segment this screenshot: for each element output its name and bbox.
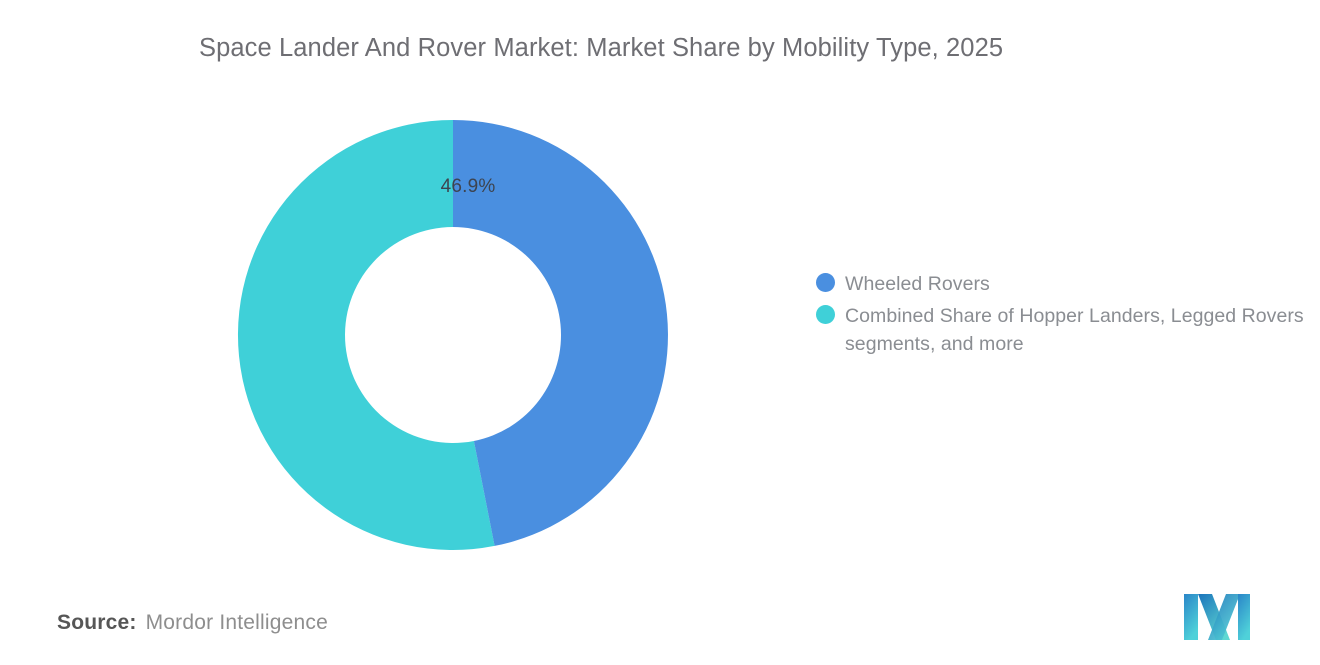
legend-item-combined-share[interactable]: Combined Share of Hopper Landers, Legged… [816,302,1308,359]
mordor-intelligence-logo-icon [1182,594,1252,640]
chart-figure: Space Lander And Rover Market: Market Sh… [0,0,1320,665]
donut-chart-plot-area [238,120,668,550]
donut-slice-wheeled-rovers[interactable] [453,120,668,546]
logo-svg [1182,594,1252,640]
source-value: Mordor Intelligence [146,611,328,635]
donut-chart-svg [238,120,668,550]
legend-swatch-icon-combined-share [816,305,835,324]
source-line: Source: Mordor Intelligence [57,611,328,635]
chart-title: Space Lander And Rover Market: Market Sh… [199,31,1259,65]
legend-swatch-icon-wheeled-rovers [816,273,835,292]
chart-legend: Wheeled Rovers Combined Share of Hopper … [816,270,1308,362]
legend-label-combined-share: Combined Share of Hopper Landers, Legged… [845,302,1308,359]
source-label: Source: [57,611,137,635]
legend-label-wheeled-rovers: Wheeled Rovers [845,270,990,299]
legend-item-wheeled-rovers[interactable]: Wheeled Rovers [816,270,1308,299]
